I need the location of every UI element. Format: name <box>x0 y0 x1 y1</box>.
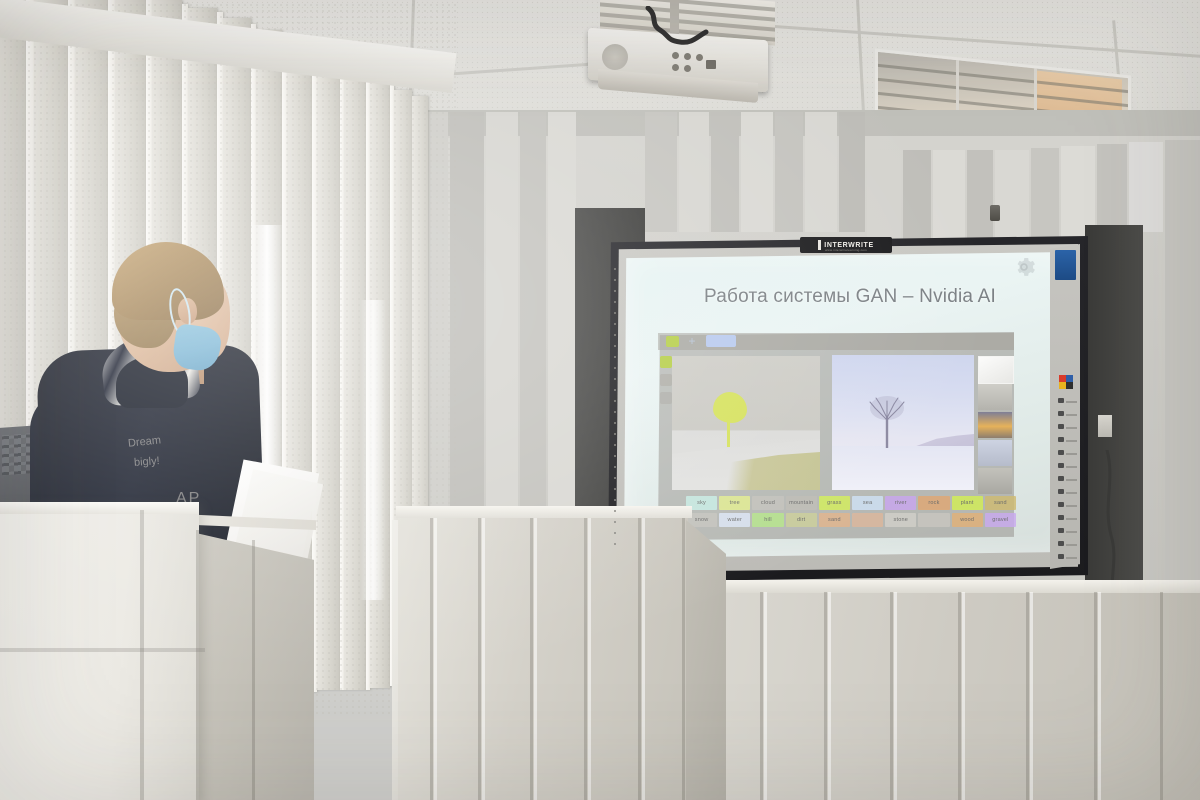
wall-outlet-box <box>1098 415 1112 437</box>
board-strip-button[interactable] <box>1058 554 1064 559</box>
material-swatch-label: mountain <box>789 500 813 506</box>
board-strip-label <box>1066 466 1077 468</box>
wall-panel <box>711 112 739 232</box>
wall-panel <box>1129 142 1163 232</box>
slide-title: Работа системы GAN – Nvidia AI <box>660 286 1040 308</box>
material-swatch-label: sand <box>828 517 841 523</box>
style-thumb-sketch[interactable] <box>978 356 1014 384</box>
board-bezel-dot <box>614 301 616 303</box>
style-thumb-gray-landscape[interactable] <box>978 384 1012 410</box>
style-thumb-sunset[interactable] <box>978 412 1012 438</box>
material-swatch[interactable]: cloud <box>752 496 783 510</box>
board-strip-label <box>1066 492 1077 494</box>
board-strip-button[interactable] <box>1058 411 1064 416</box>
board-strip-button[interactable] <box>1058 528 1064 533</box>
lectern-corner-edge <box>140 510 144 800</box>
presenter-hair <box>112 242 224 320</box>
board-bezel-dot <box>614 323 616 325</box>
classroom-photo: INTERWRITE www.interwritelearning.com Ра… <box>0 0 1200 800</box>
undo-icon[interactable] <box>666 336 679 347</box>
wall-panel <box>1097 144 1127 234</box>
material-swatch-label: water <box>728 517 742 523</box>
board-strip-button[interactable] <box>1058 450 1064 455</box>
sketch-tree-trunk <box>727 418 730 447</box>
material-swatch[interactable]: grass <box>819 496 850 510</box>
wall-panel <box>839 112 865 232</box>
wall-panel <box>805 112 837 232</box>
board-strip-label <box>1066 518 1077 520</box>
board-control-strip[interactable] <box>1050 244 1080 569</box>
material-swatch[interactable]: sea <box>852 496 883 510</box>
board-strip-label <box>1066 453 1077 455</box>
wall-panel <box>933 150 965 245</box>
material-swatch[interactable]: sand <box>985 496 1016 510</box>
wall-panel <box>741 112 773 232</box>
projector-port <box>672 52 679 59</box>
board-bezel-dot <box>614 268 616 270</box>
material-swatch[interactable] <box>852 513 883 527</box>
material-swatch-label: tree <box>730 500 740 506</box>
output-bare-tree <box>866 390 908 448</box>
board-bezel-dot <box>614 422 616 424</box>
interwrite-brand-sub: www.interwritelearning.com <box>800 248 892 252</box>
style-thumb-gray-field[interactable] <box>978 468 1012 494</box>
board-bezel-dot <box>614 455 616 457</box>
board-bezel-dot <box>614 389 616 391</box>
material-swatch-label: plant <box>961 500 974 506</box>
wall-panel <box>1031 148 1059 248</box>
board-strip-button[interactable] <box>1058 424 1064 429</box>
wall-panel <box>775 112 803 232</box>
material-swatch[interactable]: mountain <box>786 496 817 510</box>
board-bezel-dot <box>614 466 616 468</box>
wall-panel <box>967 150 993 245</box>
board-strip-label <box>1066 505 1077 507</box>
pencil-icon[interactable] <box>660 374 672 386</box>
eraser-icon[interactable] <box>660 392 672 404</box>
board-bezel-dot <box>614 532 616 534</box>
material-swatch-label: cloud <box>761 500 775 506</box>
material-swatch-label: sky <box>697 500 706 506</box>
app-toolbar: + <box>658 333 1014 350</box>
material-swatch-label: snow <box>695 517 709 523</box>
projector-usb-port <box>706 60 716 69</box>
material-swatch-label: river <box>895 500 907 506</box>
material-swatch[interactable]: dirt <box>786 513 817 527</box>
projector-port <box>672 64 679 71</box>
board-bezel-dot <box>614 488 616 490</box>
board-strip-label <box>1066 427 1077 429</box>
material-swatch-row-2: snowwaterhilldirtsandstonewoodgravel <box>686 513 1016 527</box>
board-strip-label <box>1066 479 1077 481</box>
desk-partition-side <box>686 520 726 800</box>
projector-port <box>684 53 691 60</box>
material-swatch-label: wood <box>960 517 974 523</box>
board-bezel-dot <box>614 356 616 358</box>
material-swatch-label: grass <box>827 500 841 506</box>
board-strip-button[interactable] <box>1058 502 1064 507</box>
material-swatch[interactable]: plant <box>952 496 983 510</box>
projector-cable <box>640 6 710 50</box>
board-bezel-dot <box>614 499 616 501</box>
board-bezel-dot <box>614 444 616 446</box>
board-strip-button[interactable] <box>1058 489 1064 494</box>
board-bezel-dot <box>614 279 616 281</box>
board-strip-label <box>1066 544 1077 546</box>
board-bezel-dot <box>614 510 616 512</box>
wall-panel <box>867 150 901 245</box>
board-strip-button[interactable] <box>1058 541 1064 546</box>
student-desk-row <box>672 588 1200 800</box>
lectern-panel-seam <box>0 648 205 652</box>
material-swatch[interactable]: gravel <box>985 513 1016 527</box>
board-bezel-dot <box>614 521 616 523</box>
board-bezel-dot <box>614 433 616 435</box>
lectern <box>0 505 199 800</box>
material-swatch[interactable]: water <box>719 513 750 527</box>
board-bezel-dot <box>614 411 616 413</box>
board-strip-label <box>1066 440 1077 442</box>
material-swatch-row-1: skytreecloudmountaingrassseariverrockpla… <box>686 496 1016 510</box>
material-swatch[interactable]: rock <box>918 496 949 510</box>
jacket-print-text: bigly! <box>134 455 160 469</box>
board-strip-button[interactable] <box>1058 515 1064 520</box>
board-strip-label <box>1066 531 1077 533</box>
board-bezel-dot <box>614 345 616 347</box>
projector-speaker-grille <box>602 44 628 70</box>
board-bezel-dot <box>614 312 616 314</box>
gear-icon[interactable] <box>1012 255 1036 279</box>
style-thumb-pale-blue[interactable] <box>978 440 1012 466</box>
board-bezel-dot <box>614 367 616 369</box>
board-strip-button[interactable] <box>1058 476 1064 481</box>
material-swatch-label: sand <box>994 500 1007 506</box>
material-swatch-label: hill <box>764 517 772 523</box>
wall-panel <box>995 150 1029 245</box>
color-palette-icon[interactable] <box>1059 375 1073 389</box>
desk-top-edge <box>668 580 1200 593</box>
material-swatch-label: rock <box>928 500 939 506</box>
interwrite-brand-logo: INTERWRITE www.interwritelearning.com <box>800 237 892 253</box>
board-strip-label <box>1066 557 1077 559</box>
output-snow-field <box>832 446 974 490</box>
lectern-top <box>0 502 199 514</box>
projector-port <box>684 65 691 72</box>
material-swatch-label: sea <box>863 500 872 506</box>
material-swatch[interactable]: hill <box>752 513 783 527</box>
plus-icon[interactable]: + <box>686 336 698 347</box>
material-swatch[interactable] <box>918 513 949 527</box>
material-swatch[interactable]: river <box>885 496 916 510</box>
material-swatch-label: dirt <box>797 517 805 523</box>
app-toolbar-button[interactable] <box>706 335 736 347</box>
projector-port <box>696 54 703 61</box>
window-light <box>360 300 386 600</box>
wall-panel <box>903 150 931 245</box>
board-strip-button[interactable] <box>1058 463 1064 468</box>
board-strip-label <box>1066 414 1077 416</box>
wall-panel <box>1165 140 1200 610</box>
sketch-tree-crown <box>713 392 747 423</box>
material-swatch-label: gravel <box>992 517 1008 523</box>
wall-panel <box>679 112 709 232</box>
board-bezel-dot <box>614 334 616 336</box>
board-bezel-dot <box>614 290 616 292</box>
material-swatch[interactable]: sand <box>819 513 850 527</box>
wall-sensor-icon <box>990 205 1000 221</box>
board-strip-button[interactable] <box>1058 398 1064 403</box>
material-swatch[interactable]: stone <box>885 513 916 527</box>
board-strip-label <box>1066 401 1077 403</box>
board-bezel-dot <box>614 477 616 479</box>
wall-panel <box>645 112 677 232</box>
board-logo-icon <box>1055 250 1076 280</box>
board-bezel-dot <box>614 400 616 402</box>
material-swatch[interactable]: wood <box>952 513 983 527</box>
board-strip-button[interactable] <box>1058 437 1064 442</box>
material-swatch-label: stone <box>894 517 908 523</box>
paint-bucket-icon[interactable] <box>660 356 672 368</box>
material-swatch[interactable]: tree <box>719 496 750 510</box>
board-bezel-dot <box>614 543 616 545</box>
desk-top-edge <box>396 506 692 518</box>
board-bezel-dot <box>614 378 616 380</box>
